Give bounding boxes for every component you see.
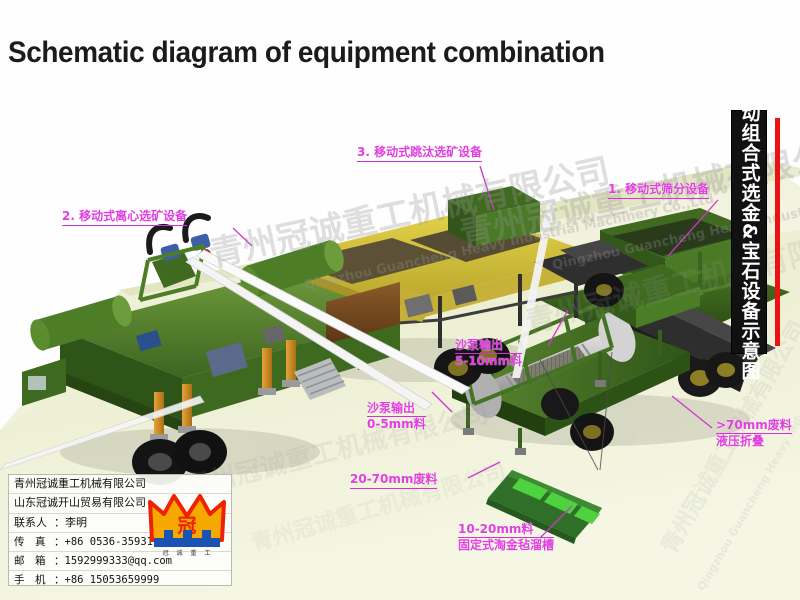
- vertical-banner: 移动组合式选金&宝石设备示意图: [731, 110, 767, 354]
- logo-block-3: [202, 530, 211, 539]
- label-pump-0-5-line2: 0-5mm料: [367, 416, 426, 432]
- company-mobile-row: 手 机：+86 15053659999: [9, 571, 231, 589]
- label-waste-70-line2: 液压折叠: [716, 433, 792, 449]
- mobile-label: 手 机: [14, 571, 54, 589]
- label-pump-5-10-line1: 沙泵输出: [455, 338, 522, 353]
- company-name-1: 青州冠诚重工机械有限公司: [9, 475, 231, 494]
- logo-base-bar: [154, 538, 220, 547]
- label-equipment-3: 3. 移动式跳汰选矿设备: [357, 145, 482, 162]
- label-waste-70-line1: >70mm废料: [716, 418, 792, 433]
- contact-value: ：李明: [54, 516, 87, 529]
- schematic-canvas: 青州冠诚重工机械有限公司 Qingzhou Guancheng Heavy In…: [0, 0, 800, 600]
- company-logo: 冠 冠 诚 重 工: [148, 494, 226, 560]
- email-label: 邮 箱: [14, 552, 54, 570]
- label-pump-5-10-line2: 5-10mm料: [455, 353, 522, 369]
- label-pump-5-10: 沙泵输出 5-10mm料: [455, 338, 522, 369]
- label-pump-0-5-line1: 沙泵输出: [367, 401, 426, 416]
- label-waste-70: >70mm废料 液压折叠: [716, 418, 792, 449]
- logo-block-2: [183, 530, 192, 539]
- fax-label: 传 真: [14, 533, 54, 551]
- label-equipment-1: 1. 移动式筛分设备: [608, 182, 709, 199]
- label-equipment-2: 2. 移动式离心选矿设备: [62, 209, 187, 226]
- contact-label: 联系人: [14, 514, 54, 532]
- logo-text: 冠 诚 重 工: [152, 548, 224, 557]
- label-sluice: 10-20mm料 固定式淘金毡溜槽: [458, 522, 554, 553]
- label-sluice-line1: 10-20mm料: [458, 522, 554, 537]
- label-waste-20-70: 20-70mm废料: [350, 472, 437, 489]
- logo-block-1: [164, 530, 173, 539]
- label-pump-0-5: 沙泵输出 0-5mm料: [367, 401, 426, 432]
- mobile-value: ：+86 15053659999: [54, 574, 159, 586]
- label-sluice-line2: 固定式淘金毡溜槽: [458, 537, 554, 553]
- red-accent-bar: [775, 118, 780, 346]
- vertical-banner-text: 移动组合式选金&宝石设备示意图: [740, 83, 759, 381]
- page-title: Schematic diagram of equipment combinati…: [8, 36, 605, 70]
